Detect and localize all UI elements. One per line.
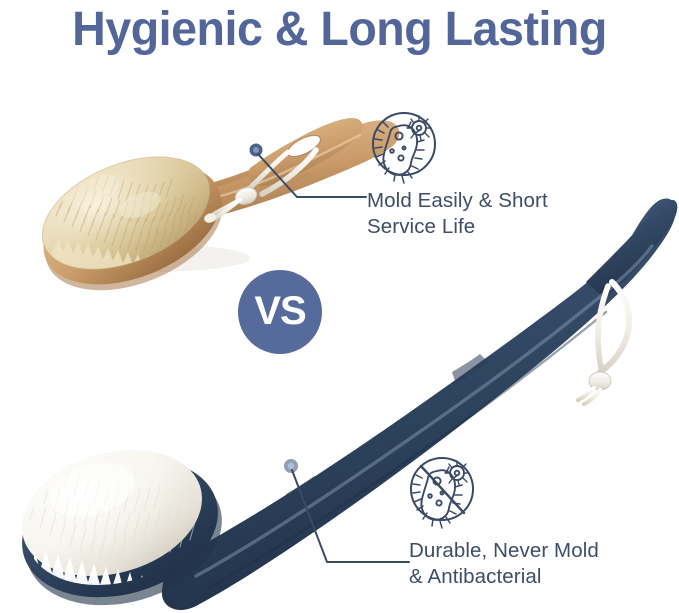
- leader-line-bottom: [284, 459, 409, 562]
- leader-lines: [0, 0, 679, 613]
- vs-badge: VS: [238, 270, 322, 354]
- navy-brush-illustration: [0, 0, 679, 613]
- vs-badge-label: VS: [254, 291, 305, 331]
- page-title: Hygienic & Long Lasting: [10, 2, 669, 57]
- leader-line-top: [250, 144, 367, 198]
- bacteria-icon: [0, 0, 679, 613]
- callout-text-top: Mold Easily & Short Service Life: [367, 188, 667, 240]
- bacteria-blocked-icon: [0, 0, 679, 613]
- wooden-brush-illustration: [0, 0, 679, 613]
- callout-text-bottom: Durable, Never Mold & Antibacterial: [409, 538, 679, 590]
- infographic-canvas: Hygienic & Long Lasting: [0, 0, 679, 613]
